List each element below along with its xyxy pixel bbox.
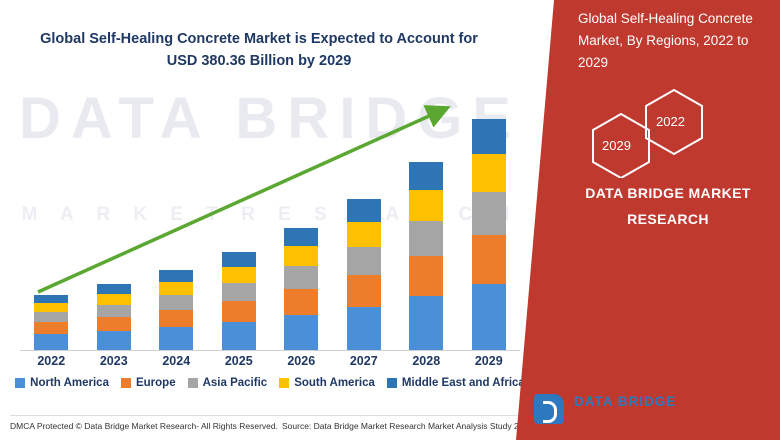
bar-segment xyxy=(97,317,131,331)
legend-item: North America xyxy=(15,377,109,389)
bar-group xyxy=(347,199,381,350)
bar-segment xyxy=(472,192,506,235)
chart-legend: North AmericaEuropeAsia PacificSouth Ame… xyxy=(14,377,526,389)
bar-segment xyxy=(347,199,381,222)
data-bridge-logo: DATA BRIDGE MARKET RESEARCH xyxy=(516,390,780,440)
hexagon-group: 2029 2022 xyxy=(576,88,766,178)
branding-panel: Global Self-Healing Concrete Market, By … xyxy=(516,0,780,440)
bar-group xyxy=(409,162,443,350)
x-axis-tick-label: 2023 xyxy=(84,354,144,368)
hex-label-2022: 2022 xyxy=(656,114,685,129)
bar-segment xyxy=(409,221,443,256)
brand-name: DATA BRIDGE MARKET RESEARCH xyxy=(568,180,768,232)
bar-segment xyxy=(97,331,131,350)
bar-segment xyxy=(159,310,193,327)
footer: DMCA Protected © Data Bridge Market Rese… xyxy=(0,415,540,440)
bar-segment xyxy=(409,296,443,350)
x-axis-tick-label: 2029 xyxy=(459,354,519,368)
bar-segment xyxy=(34,303,68,312)
logo-mark-icon xyxy=(534,394,564,424)
legend-swatch xyxy=(15,378,25,388)
bar-segment xyxy=(409,256,443,296)
x-axis-tick-label: 2028 xyxy=(396,354,456,368)
legend-swatch xyxy=(387,378,397,388)
page-title: Global Self-Healing Concrete Market is E… xyxy=(24,28,494,72)
legend-label: North America xyxy=(30,377,109,389)
bar-segment xyxy=(159,295,193,310)
x-axis-labels: 20222023202420252026202720282029 xyxy=(20,354,520,374)
bar-segment xyxy=(34,334,68,350)
bar-segment xyxy=(34,312,68,322)
bar-segment xyxy=(222,322,256,350)
x-axis-tick-label: 2027 xyxy=(334,354,394,368)
bar-segment xyxy=(472,284,506,350)
bar-segment xyxy=(347,247,381,275)
bar-segment xyxy=(409,162,443,190)
hex-label-2029: 2029 xyxy=(602,138,631,153)
bar-segment xyxy=(222,267,256,283)
bar-segment xyxy=(97,294,131,305)
legend-item: Europe xyxy=(121,377,176,389)
legend-item: Middle East and Africa xyxy=(387,377,525,389)
bar-group xyxy=(284,228,318,350)
chart-panel: DATA BRIDGE M A R K E T R E S E A R C H … xyxy=(0,0,540,440)
bar-group xyxy=(159,270,193,350)
legend-label: Europe xyxy=(136,377,176,389)
x-axis-line xyxy=(20,350,520,351)
logo-line-2: MARKET RESEARCH xyxy=(574,411,710,421)
legend-swatch xyxy=(279,378,289,388)
bar-segment xyxy=(159,270,193,282)
bar-group xyxy=(34,295,68,350)
bar-segment xyxy=(222,283,256,301)
x-axis-tick-label: 2024 xyxy=(146,354,206,368)
bar-segment xyxy=(347,307,381,350)
bar-segment xyxy=(472,119,506,154)
bar-segment xyxy=(97,284,131,294)
bar-segment xyxy=(347,275,381,307)
bar-group xyxy=(472,119,506,350)
x-axis-tick-label: 2026 xyxy=(271,354,331,368)
bar-segment xyxy=(159,282,193,295)
bar-segment xyxy=(284,228,318,246)
legend-label: Middle East and Africa xyxy=(402,377,525,389)
banner-title: Global Self-Healing Concrete Market, By … xyxy=(578,8,768,74)
logo-line-1: DATA BRIDGE xyxy=(574,394,710,409)
bar-segment xyxy=(284,315,318,350)
bar-segment xyxy=(284,266,318,289)
bar-segment xyxy=(159,327,193,350)
bar-segment xyxy=(472,235,506,284)
legend-label: Asia Pacific xyxy=(203,377,268,389)
bar-group xyxy=(97,284,131,350)
bar-segment xyxy=(97,305,131,317)
legend-swatch xyxy=(188,378,198,388)
logo-text: DATA BRIDGE MARKET RESEARCH xyxy=(574,394,710,421)
legend-item: South America xyxy=(279,377,375,389)
stacked-bar-plot xyxy=(20,100,520,350)
bar-segment xyxy=(472,154,506,192)
bar-segment xyxy=(284,246,318,266)
legend-item: Asia Pacific xyxy=(188,377,268,389)
footer-source: Source: Data Bridge Market Research Mark… xyxy=(282,421,533,431)
footer-divider xyxy=(10,415,530,416)
bar-group xyxy=(222,252,256,350)
bar-segment xyxy=(34,295,68,303)
brand-line-1: DATA BRIDGE MARKET xyxy=(568,180,768,206)
bar-segment xyxy=(222,301,256,322)
x-axis-tick-label: 2025 xyxy=(209,354,269,368)
bar-segment xyxy=(347,222,381,247)
bar-segment xyxy=(34,322,68,334)
brand-line-2: RESEARCH xyxy=(568,206,768,232)
bar-segment xyxy=(284,289,318,315)
bar-segment xyxy=(409,190,443,221)
legend-label: South America xyxy=(294,377,375,389)
legend-swatch xyxy=(121,378,131,388)
footer-copyright: DMCA Protected © Data Bridge Market Rese… xyxy=(10,421,278,431)
bar-segment xyxy=(222,252,256,267)
x-axis-tick-label: 2022 xyxy=(21,354,81,368)
